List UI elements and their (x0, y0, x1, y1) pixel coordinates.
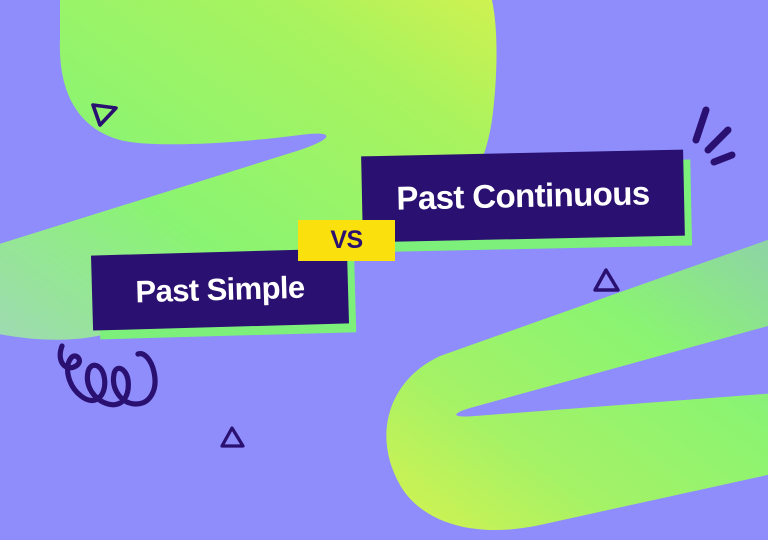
triangle-outline-icon (219, 424, 247, 452)
vs-badge: VS (298, 220, 395, 261)
title-label-past-continuous: Past Continuous (396, 176, 650, 216)
poster-canvas: Past Continuous Past Simple VS (0, 0, 768, 540)
title-block-past-continuous: Past Continuous (361, 150, 685, 243)
vs-badge-label: VS (330, 228, 362, 253)
triangle-outline-icon (592, 266, 622, 296)
triangle-outline-icon (88, 98, 122, 132)
squiggle-loop-icon (46, 334, 186, 424)
title-label-past-simple: Past Simple (135, 272, 305, 308)
